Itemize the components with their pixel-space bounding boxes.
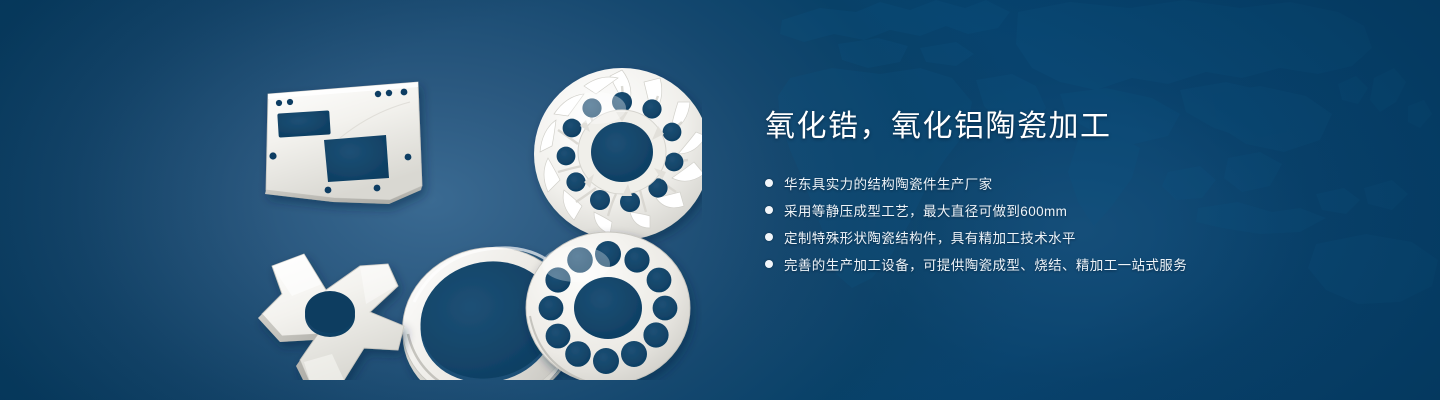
feature-text: 完善的生产加工设备，可提供陶瓷成型、烧结、精加工一站式服务 <box>784 254 1187 274</box>
list-item: 完善的生产加工设备，可提供陶瓷成型、烧结、精加工一站式服务 <box>765 253 1385 275</box>
ceramic-impeller-disc <box>534 68 702 240</box>
bullet-dot-icon <box>765 233 773 241</box>
list-item: 采用等静压成型工艺，最大直径可做到600mm <box>765 199 1385 221</box>
list-item: 定制特殊形状陶瓷结构件，具有精加工技术水平 <box>765 226 1385 248</box>
product-photo-group <box>232 42 702 380</box>
list-item: 华东具实力的结构陶瓷件生产厂家 <box>765 172 1385 194</box>
feature-list: 华东具实力的结构陶瓷件生产厂家 采用等静压成型工艺，最大直径可做到600mm 定… <box>765 172 1385 275</box>
feature-text: 华东具实力的结构陶瓷件生产厂家 <box>784 173 993 193</box>
bullet-dot-icon <box>765 260 773 268</box>
feature-text: 采用等静压成型工艺，最大直径可做到600mm <box>784 200 1067 220</box>
bullet-dot-icon <box>765 179 773 187</box>
ceramic-mounting-plate <box>265 82 422 204</box>
banner-headline: 氧化锆，氧化铝陶瓷加工 <box>765 108 1385 146</box>
feature-text: 定制特殊形状陶瓷结构件，具有精加工技术水平 <box>784 227 1076 247</box>
banner-copy: 氧化锆，氧化铝陶瓷加工 华东具实力的结构陶瓷件生产厂家 采用等静压成型工艺，最大… <box>765 108 1385 280</box>
bullet-dot-icon <box>765 206 773 214</box>
ceramic-flange-disc <box>526 232 690 380</box>
promo-banner: 氧化锆，氧化铝陶瓷加工 华东具实力的结构陶瓷件生产厂家 采用等静压成型工艺，最大… <box>0 0 1440 400</box>
ceramic-cross-plate <box>258 254 404 380</box>
